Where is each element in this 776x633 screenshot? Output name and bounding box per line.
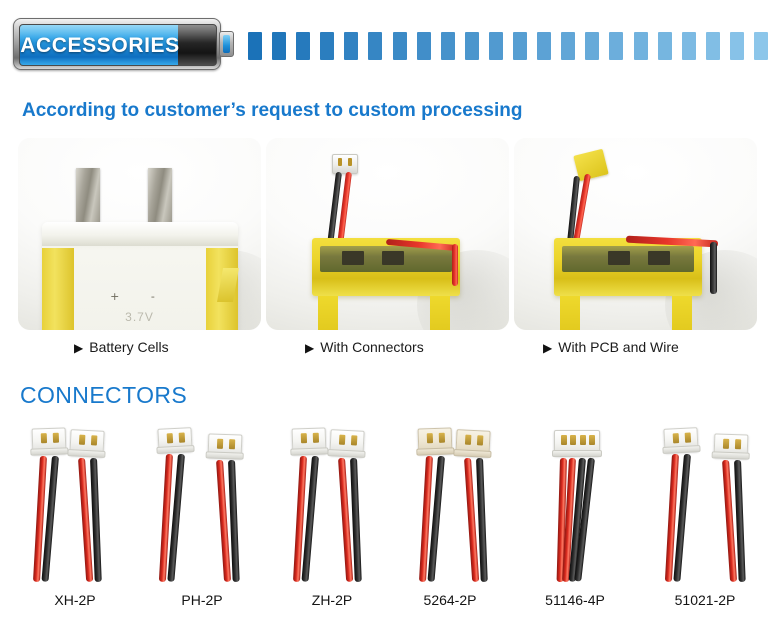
header-dash <box>272 32 286 60</box>
photo-caption-text: Battery Cells <box>89 339 168 355</box>
connector-label-5264-2p: 5264-2P <box>380 592 520 608</box>
connector-pin <box>167 433 174 443</box>
photo-card-battery-cells[interactable]: + - 3.7V <box>18 138 261 330</box>
header-band: ACCESSORIES <box>0 0 776 88</box>
connector-pin <box>351 435 358 445</box>
connector-housing <box>208 433 243 458</box>
connector-artwork <box>12 414 138 582</box>
connector-artwork <box>398 414 524 582</box>
connector-pin <box>179 432 186 442</box>
connector-pin <box>301 433 307 443</box>
battery-leg-left <box>560 296 580 330</box>
header-dash <box>537 32 551 60</box>
connector-housing <box>554 430 600 456</box>
header-dash <box>585 32 599 60</box>
header-dash <box>344 32 358 60</box>
battery-empty-section <box>178 25 216 65</box>
header-dash <box>489 32 503 60</box>
connector-pin <box>229 439 235 449</box>
connector-pin <box>91 435 98 445</box>
header-dash <box>634 32 648 60</box>
connector-artwork <box>142 414 268 582</box>
connector-item-zh-2p[interactable] <box>272 414 398 582</box>
connector-item-xh-2p[interactable] <box>12 414 138 582</box>
connector-pin <box>427 433 433 443</box>
photo-caption-text: With Connectors <box>320 339 423 355</box>
jst-connector-housing <box>332 154 358 174</box>
protection-pcb <box>562 246 694 272</box>
connector-label-51021-2p: 51021-2P <box>635 592 775 608</box>
connector-pin <box>673 433 680 443</box>
triangle-bullet-icon: ▶ <box>543 341 552 355</box>
header-dash <box>609 32 623 60</box>
connector-pin <box>338 158 342 166</box>
battery-banner-logo: ACCESSORIES <box>13 18 237 70</box>
photo-caption-with-connectors: ▶With Connectors <box>305 339 424 355</box>
connector-housing-lip <box>416 447 454 455</box>
connector-housing-lip <box>453 449 491 458</box>
header-dash-strip <box>248 32 768 60</box>
header-dash <box>513 32 527 60</box>
pcb-chip <box>342 251 364 265</box>
pcb-chip <box>648 251 670 265</box>
connector-pin <box>41 433 47 443</box>
connector-label-ph-2p: PH-2P <box>132 592 272 608</box>
header-dash <box>417 32 431 60</box>
battery-leg-right <box>672 296 692 330</box>
header-dash <box>368 32 382 60</box>
header-dash <box>706 32 720 60</box>
battery-terminal-inner <box>223 35 230 53</box>
header-dash <box>682 32 696 60</box>
connector-artwork <box>520 414 646 582</box>
output-wire-black <box>710 242 717 294</box>
battery-banner-label: ACCESSORIES <box>20 25 180 66</box>
custom-processing-heading: According to customer’s request to custo… <box>22 100 522 122</box>
taped-battery-legs <box>554 296 702 330</box>
photo-caption-with-pcb-and-wire: ▶With PCB and Wire <box>543 339 679 355</box>
connector-pin <box>348 158 352 166</box>
connector-housing <box>714 433 749 458</box>
connector-pin <box>313 433 319 443</box>
connector-label-xh-2p: XH-2P <box>5 592 145 608</box>
connector-housing-lip <box>712 451 750 459</box>
header-dash <box>296 32 310 60</box>
connector-housing <box>418 427 453 454</box>
connector-housing <box>32 427 67 454</box>
connector-pin <box>465 435 472 445</box>
connector-pin <box>589 435 595 445</box>
connector-housing-lip <box>206 451 244 459</box>
connector-pin <box>53 433 59 443</box>
header-dash <box>730 32 744 60</box>
pcb-chip <box>608 251 630 265</box>
connector-housing <box>292 427 327 454</box>
connector-item-5264-2p[interactable] <box>398 414 524 582</box>
connector-pin <box>439 433 445 443</box>
connector-housing <box>69 429 104 457</box>
pcb-chip <box>382 251 404 265</box>
connector-item-ph-2p[interactable] <box>142 414 268 582</box>
taped-battery-body <box>554 238 702 296</box>
connector-housing <box>455 429 490 457</box>
photo-card-with-pcb-and-wire[interactable] <box>514 138 757 330</box>
connector-item-51146-4p[interactable] <box>520 414 646 582</box>
connector-housing-lip <box>327 449 365 458</box>
connector-housing-lip <box>290 447 328 455</box>
battery-shell: ACCESSORIES <box>13 18 221 70</box>
connector-artwork <box>272 414 398 582</box>
header-dash <box>658 32 672 60</box>
battery-tab-wire-red-bend <box>452 244 458 286</box>
connector-item-51021-2p[interactable] <box>648 414 774 582</box>
connector-housing-lip <box>156 445 194 454</box>
connector-pin <box>477 435 484 445</box>
triangle-bullet-icon: ▶ <box>74 341 83 355</box>
connector-housing-lip <box>552 450 602 457</box>
header-dash <box>465 32 479 60</box>
connectors-heading: CONNECTORS <box>20 382 187 409</box>
cell-solder-tab-negative <box>148 168 172 226</box>
battery-leg-right <box>430 296 450 330</box>
photo-caption-text: With PCB and Wire <box>558 339 679 355</box>
connector-housing <box>329 429 364 457</box>
connector-pin <box>735 439 741 449</box>
connector-pin <box>580 435 586 445</box>
header-dash <box>393 32 407 60</box>
connector-pin <box>561 435 567 445</box>
connector-housing-lip <box>662 445 700 454</box>
header-dash <box>561 32 575 60</box>
cell-polarity-marking: + - <box>18 290 261 303</box>
connector-housing-lip <box>30 447 68 455</box>
battery-terminal-cap <box>219 31 234 57</box>
connector-pin <box>217 439 223 449</box>
header-dash <box>441 32 455 60</box>
connector-housing <box>663 427 698 453</box>
pouch-cell-seal <box>42 222 238 246</box>
taped-battery-legs <box>312 296 460 330</box>
connector-artwork <box>648 414 774 582</box>
connector-pin <box>685 432 692 442</box>
header-dash <box>320 32 334 60</box>
connector-pin <box>79 435 86 445</box>
connector-housing-lip <box>67 449 105 458</box>
battery-inner: ACCESSORIES <box>19 24 217 66</box>
protection-pcb <box>320 246 452 272</box>
connector-housing <box>157 427 192 453</box>
connector-pin <box>570 435 576 445</box>
photo-card-with-connectors[interactable] <box>266 138 509 330</box>
header-dash <box>248 32 262 60</box>
header-dash <box>754 32 768 60</box>
battery-leg-left <box>318 296 338 330</box>
connector-pin <box>339 435 346 445</box>
connector-pin <box>723 439 729 449</box>
cell-solder-tab-positive <box>76 168 100 226</box>
triangle-bullet-icon: ▶ <box>305 341 314 355</box>
cell-printed-text: 3.7V <box>18 310 261 324</box>
connector-label-51146-4p: 51146-4P <box>505 592 645 608</box>
photo-caption-battery-cells: ▶Battery Cells <box>74 339 169 355</box>
